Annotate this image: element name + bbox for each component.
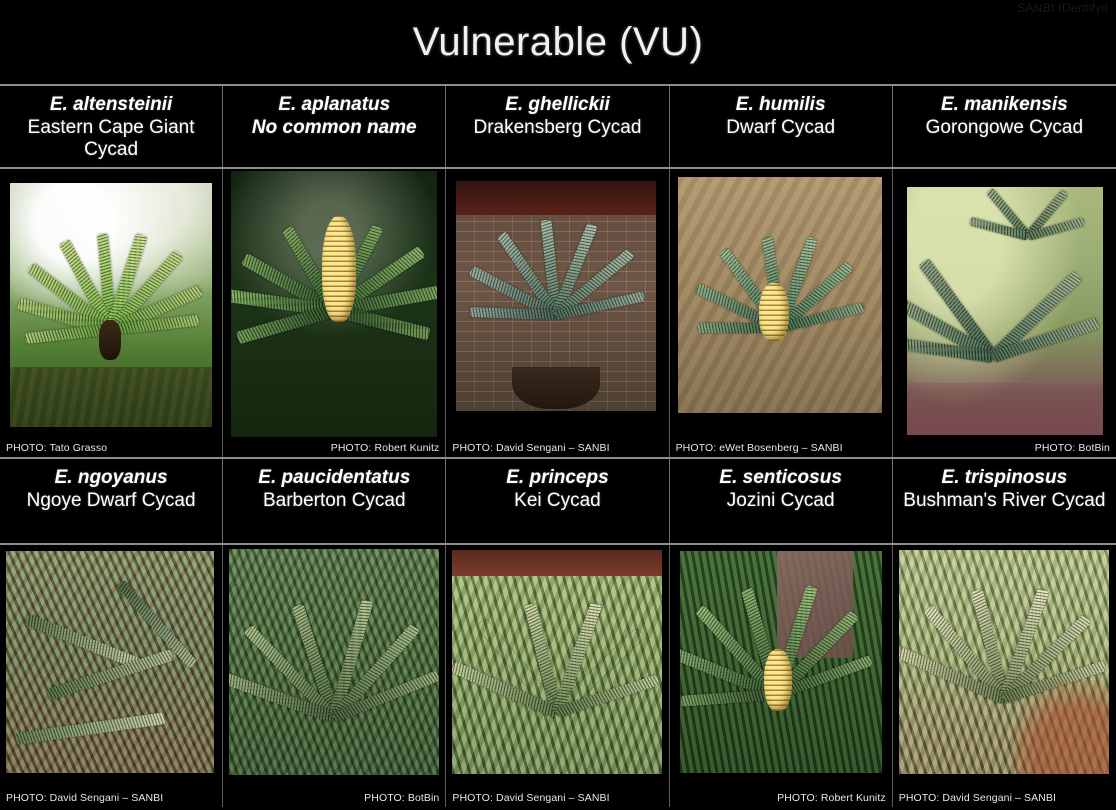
common-name: Drakensberg Cycad (452, 117, 662, 139)
species-photo-paucidentatus (229, 549, 439, 775)
photo-row-1: PHOTO: Tato Grasso PHOTO: Robert Kun (0, 169, 1116, 459)
title-bar: Vulnerable (VU) (0, 0, 1116, 84)
sanbi-watermark: SANBI IDentifyit (1017, 1, 1108, 15)
scientific-name: E. senticosus (676, 467, 886, 488)
photo-credit: PHOTO: BotBin (1035, 442, 1110, 454)
scientific-name: E. altensteinii (6, 94, 216, 115)
common-name: Dwarf Cycad (676, 117, 886, 139)
photo-credit: PHOTO: David Sengani – SANBI (899, 792, 1056, 804)
species-photo-cell-princeps[interactable]: PHOTO: David Sengani – SANBI (446, 545, 669, 807)
scientific-name: E. aplanatus (229, 94, 439, 115)
species-photo-cell-humilis[interactable]: PHOTO: eWet Bosenberg – SANBI (670, 169, 893, 457)
photo-credit: PHOTO: Robert Kunitz (777, 792, 886, 804)
photo-credit: PHOTO: Tato Grasso (6, 442, 107, 454)
species-photo-ghellickii (456, 181, 656, 411)
scientific-name: E. manikensis (899, 94, 1110, 115)
species-photo-cell-ghellickii[interactable]: PHOTO: David Sengani – SANBI (446, 169, 669, 457)
species-name-cell-paucidentatus[interactable]: E. paucidentatus Barberton Cycad (223, 459, 446, 543)
species-photo-cell-senticosus[interactable]: PHOTO: Robert Kunitz (670, 545, 893, 807)
common-name: Bushman's River Cycad (899, 490, 1110, 512)
scientific-name: E. ngoyanus (6, 467, 216, 488)
species-name-cell-aplanatus[interactable]: E. aplanatus No common name (223, 86, 446, 167)
species-photo-ngoyanus (6, 551, 214, 773)
species-name-cell-senticosus[interactable]: E. senticosus Jozini Cycad (670, 459, 893, 543)
name-row-1: E. altensteinii Eastern Cape Giant Cycad… (0, 86, 1116, 169)
common-name: Jozini Cycad (676, 490, 886, 512)
species-photo-cell-aplanatus[interactable]: PHOTO: Robert Kunitz (223, 169, 446, 457)
photo-credit: PHOTO: Robert Kunitz (331, 442, 440, 454)
photo-credit: PHOTO: eWet Bosenberg – SANBI (676, 442, 843, 454)
common-name: Ngoye Dwarf Cycad (6, 490, 216, 512)
species-name-cell-princeps[interactable]: E. princeps Kei Cycad (446, 459, 669, 543)
common-name: Kei Cycad (452, 490, 662, 512)
species-photo-cell-trispinosus[interactable]: PHOTO: David Sengani – SANBI (893, 545, 1116, 807)
scientific-name: E. trispinosus (899, 467, 1110, 488)
common-name: Gorongowe Cycad (899, 117, 1110, 139)
common-name: Barberton Cycad (229, 490, 439, 512)
photo-credit: PHOTO: David Sengani – SANBI (6, 792, 163, 804)
species-photo-senticosus (680, 551, 882, 773)
species-photo-cell-manikensis[interactable]: PHOTO: BotBin (893, 169, 1116, 457)
species-name-cell-trispinosus[interactable]: E. trispinosus Bushman's River Cycad (893, 459, 1116, 543)
cycad-cone-icon (764, 649, 792, 711)
photo-credit: PHOTO: BotBin (364, 792, 439, 804)
species-photo-manikensis (907, 187, 1103, 435)
scientific-name: E. humilis (676, 94, 886, 115)
species-grid: E. altensteinii Eastern Cape Giant Cycad… (0, 84, 1116, 807)
species-photo-cell-altensteinii[interactable]: PHOTO: Tato Grasso (0, 169, 223, 457)
species-name-cell-altensteinii[interactable]: E. altensteinii Eastern Cape Giant Cycad (0, 86, 223, 167)
scientific-name: E. ghellickii (452, 94, 662, 115)
name-row-2: E. ngoyanus Ngoye Dwarf Cycad E. paucide… (0, 459, 1116, 545)
page-title: Vulnerable (VU) (413, 20, 704, 65)
species-name-cell-humilis[interactable]: E. humilis Dwarf Cycad (670, 86, 893, 167)
species-photo-cell-paucidentatus[interactable]: PHOTO: BotBin (223, 545, 446, 807)
scientific-name: E. paucidentatus (229, 467, 439, 488)
species-photo-princeps (452, 550, 662, 774)
common-name: Eastern Cape Giant Cycad (6, 117, 216, 161)
cycad-cone-icon (759, 283, 789, 341)
species-name-cell-ngoyanus[interactable]: E. ngoyanus Ngoye Dwarf Cycad (0, 459, 223, 543)
photo-credit: PHOTO: David Sengani – SANBI (452, 792, 609, 804)
common-name: No common name (229, 117, 439, 139)
species-photo-humilis (678, 177, 882, 413)
photo-row-2: PHOTO: David Sengani – SANBI PHOTO: BotB… (0, 545, 1116, 807)
species-photo-trispinosus (899, 550, 1109, 774)
species-photo-aplanatus (231, 171, 437, 437)
species-photo-altensteinii (10, 183, 212, 427)
species-photo-cell-ngoyanus[interactable]: PHOTO: David Sengani – SANBI (0, 545, 223, 807)
cycad-cone-icon (322, 216, 356, 322)
photo-credit: PHOTO: David Sengani – SANBI (452, 442, 609, 454)
species-name-cell-ghellickii[interactable]: E. ghellickii Drakensberg Cycad (446, 86, 669, 167)
species-name-cell-manikensis[interactable]: E. manikensis Gorongowe Cycad (893, 86, 1116, 167)
scientific-name: E. princeps (452, 467, 662, 488)
